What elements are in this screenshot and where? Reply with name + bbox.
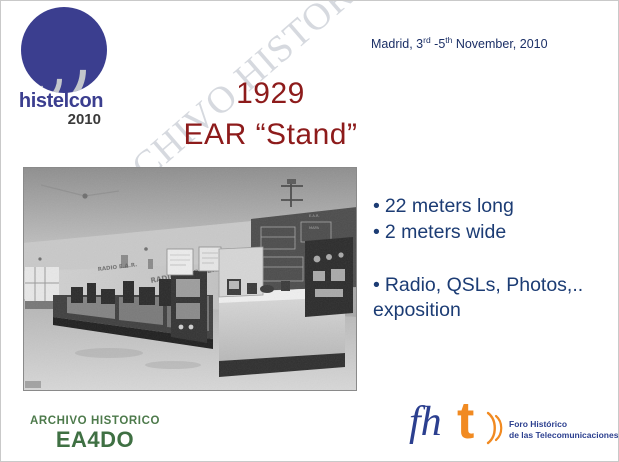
fht-logo: fh t Foro Histórico de las Telecomunicac… [409, 399, 614, 455]
list-item-label: 2 meters wide [385, 221, 506, 243]
page-title-year: 1929 [1, 77, 619, 111]
list-item: •Radio, QSLs, Photos,.. exposition [373, 273, 609, 324]
list-item: •22 meters long [373, 193, 609, 219]
historical-photo: RADIO E.A.R. RADIO CLUB CENTRO DE BARCEL… [23, 167, 357, 391]
fht-tagline-line1: Foro Histórico [509, 419, 618, 430]
date-month-year: November, 2010 [452, 37, 547, 51]
conference-city: Madrid, [371, 37, 416, 51]
conference-date: Madrid, 3rd -5th November, 2010 [371, 37, 548, 51]
bullet-marker-icon: • [373, 274, 380, 296]
list-item: •2 meters wide [373, 219, 609, 245]
histelcon-logo: histelcon 2010 [9, 5, 119, 131]
fht-logo-tagline: Foro Histórico de las Telecomunicaciones [509, 419, 618, 441]
archive-historico-logo: ARCHIVO HISTORICO EA4DO [15, 415, 175, 451]
presentation-slide: histelcon 2010 Madrid, 3rd -5th November… [0, 0, 619, 462]
page-title: EAR “Stand” [1, 118, 619, 152]
list-item-label: 22 meters long [385, 195, 514, 217]
fht-logo-fh: fh [409, 401, 442, 443]
date-day-start-ordinal: rd [423, 35, 431, 45]
fht-logo-t: t [457, 395, 474, 447]
bullet-marker-icon: • [373, 221, 380, 243]
fht-tagline-line2: de las Telecomunicaciones [509, 430, 618, 441]
list-spacer [373, 246, 609, 273]
bullet-list: •22 meters long •2 meters wide •Radio, Q… [373, 193, 609, 323]
list-item-label: Radio, QSLs, Photos,.. exposition [373, 274, 583, 321]
archive-logo-line1: ARCHIVO HISTORICO [15, 415, 175, 427]
historical-photo-image: RADIO E.A.R. RADIO CLUB CENTRO DE BARCEL… [23, 167, 357, 391]
archive-logo-line2: EA4DO [15, 428, 175, 451]
signal-arcs-icon [483, 409, 509, 447]
bullet-marker-icon: • [373, 195, 380, 217]
